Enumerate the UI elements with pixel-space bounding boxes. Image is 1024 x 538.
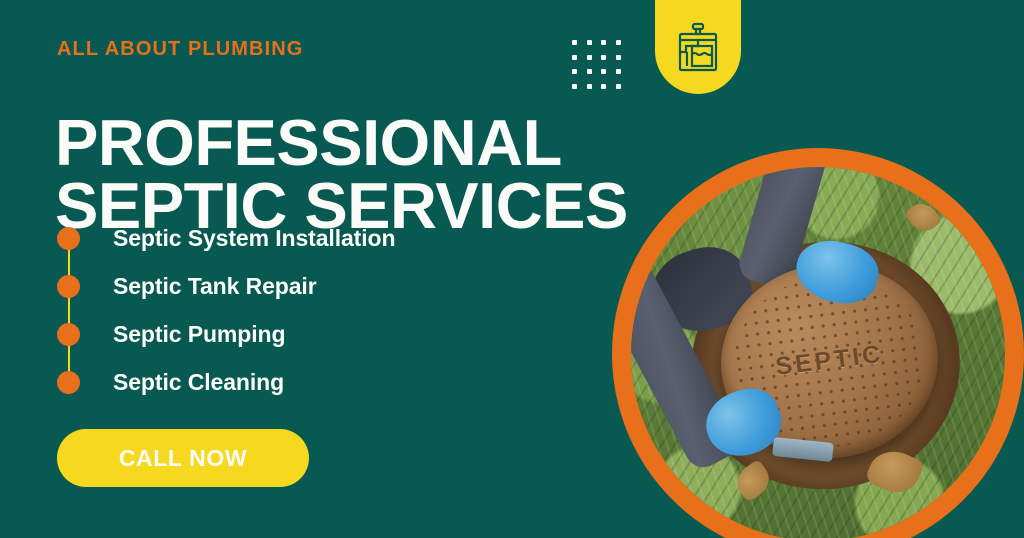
- bullet-icon: [57, 371, 80, 394]
- service-label: Septic Pumping: [113, 321, 285, 348]
- bullet-icon: [57, 227, 80, 250]
- service-label: Septic System Installation: [113, 225, 395, 252]
- call-now-button[interactable]: CALL NOW: [57, 429, 309, 487]
- bullet-icon: [57, 275, 80, 298]
- bullet-icon: [57, 323, 80, 346]
- photo-ring: SEPTIC: [612, 148, 1024, 538]
- septic-photo: SEPTIC: [631, 167, 1005, 538]
- service-label: Septic Tank Repair: [113, 273, 317, 300]
- list-item: Septic System Installation: [57, 214, 477, 262]
- septic-services-banner: ALL ABOUT PLUMBING PROFESSIONAL SEPTIC S…: [0, 0, 1024, 538]
- service-label: Septic Cleaning: [113, 369, 284, 396]
- photo-lid-text: SEPTIC: [774, 340, 885, 382]
- eyebrow-text: ALL ABOUT PLUMBING: [57, 39, 303, 59]
- badge-tab: [655, 0, 741, 94]
- headline-line-1: PROFESSIONAL: [55, 111, 655, 174]
- list-item: Septic Pumping: [57, 310, 477, 358]
- dot-grid-pattern: [572, 40, 630, 98]
- list-item: Septic Tank Repair: [57, 262, 477, 310]
- list-item: Septic Cleaning: [57, 358, 477, 406]
- services-list: Septic System Installation Septic Tank R…: [57, 214, 477, 406]
